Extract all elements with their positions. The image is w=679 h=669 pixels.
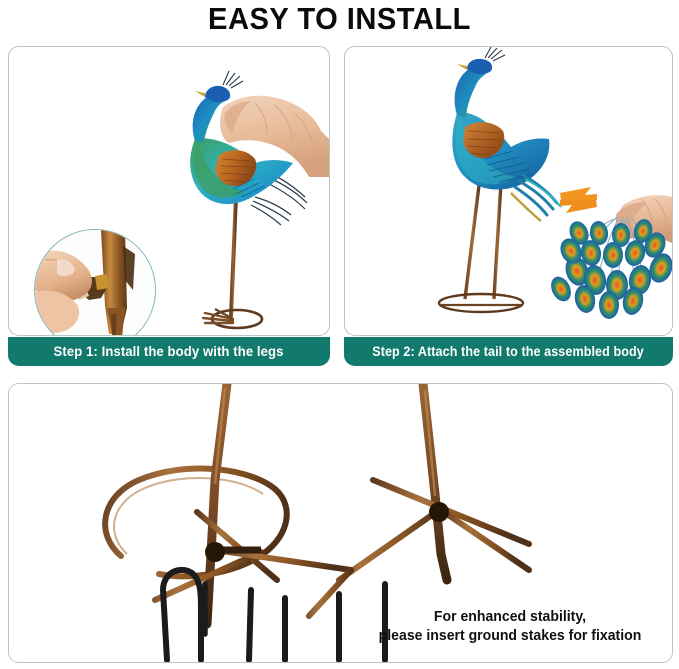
- pin-insert-closeup: [35, 230, 155, 336]
- stability-caption-line1: For enhanced stability,: [357, 608, 664, 627]
- step-1-banner: Step 1: Install the body with the legs: [8, 337, 330, 366]
- instruction-sheet: EASY TO INSTALL: [0, 0, 679, 669]
- step-1-banner-label: Step 1: Install the body with the legs: [54, 344, 284, 359]
- step-2-illustration: [345, 47, 672, 335]
- step-2-banner-label: Step 2: Attach the tail to the assembled…: [373, 344, 645, 359]
- step-2-photo-panel: [344, 46, 673, 336]
- step-1-photo-panel: [8, 46, 330, 336]
- step-2-banner: Step 2: Attach the tail to the assembled…: [344, 337, 673, 366]
- page-title: EASY TO INSTALL: [20, 2, 658, 36]
- stability-caption: For enhanced stability, please insert gr…: [352, 608, 668, 646]
- stability-caption-line2: please insert ground stakes for fixation: [357, 627, 664, 646]
- arrow-icon: [560, 187, 597, 213]
